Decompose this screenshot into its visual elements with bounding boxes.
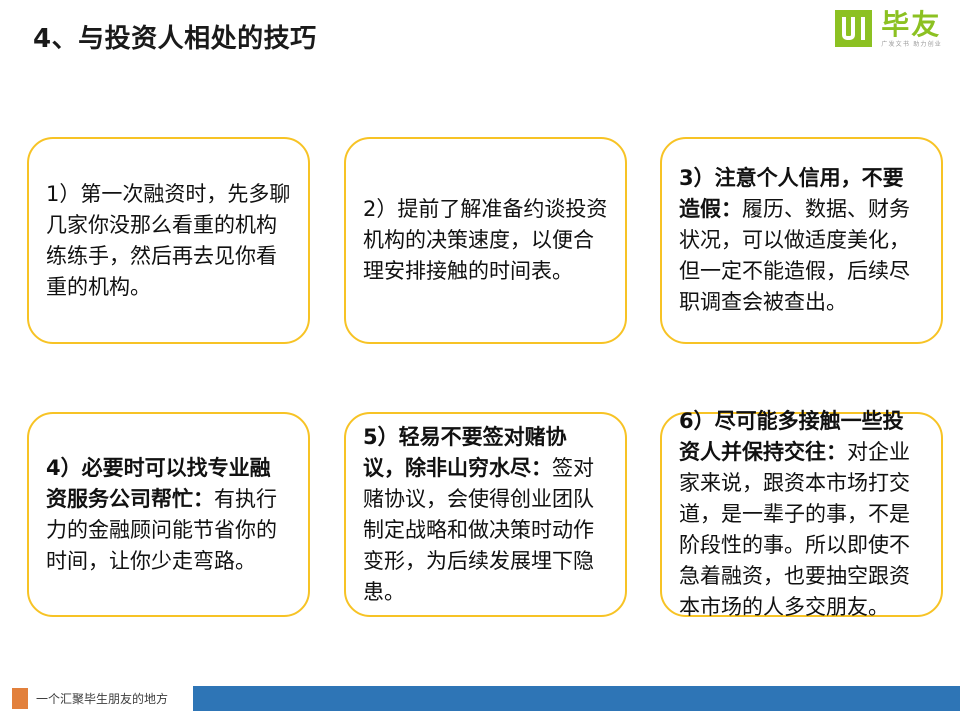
logo-subtitle: 广发文书 助力创业 xyxy=(881,41,942,49)
tip-card-6-body: 对企业家来说，跟资本市场打交道，是一辈子的事，不是阶段性的事。所以即使不急着融资… xyxy=(679,440,910,619)
tips-card-grid: 1）第一次融资时，先多聊几家你没那么看重的机构练练手，然后再去见你看重的机构。 … xyxy=(27,137,943,617)
tip-card-2-text: 2）提前了解准备约谈投资机构的决策速度，以便合理安排接触的时间表。 xyxy=(363,194,608,287)
tip-card-5-text: 5）轻易不要签对赌协议，除非山穷水尽：签对赌协议，会使得创业团队制定战略和做决策… xyxy=(363,422,608,608)
tip-card-4-text: 4）必要时可以找专业融资服务公司帮忙：有执行力的金融顾问能节省你的时间，让你少走… xyxy=(46,453,291,577)
tip-card-1: 1）第一次融资时，先多聊几家你没那么看重的机构练练手，然后再去见你看重的机构。 xyxy=(27,137,310,344)
tip-card-6: 6）尽可能多接触一些投资人并保持交往：对企业家来说，跟资本市场打交道，是一辈子的… xyxy=(660,412,943,617)
tip-card-2: 2）提前了解准备约谈投资机构的决策速度，以便合理安排接触的时间表。 xyxy=(344,137,627,344)
logo-u-glyph xyxy=(842,17,855,40)
page-title: 4、与投资人相处的技巧 xyxy=(33,18,317,55)
tip-card-1-text: 1）第一次融资时，先多聊几家你没那么看重的机构练练手，然后再去见你看重的机构。 xyxy=(46,179,291,303)
logo-wordmark: 毕友 xyxy=(881,10,942,40)
slide-footer: 一个汇聚毕生朋友的地方 xyxy=(0,684,960,720)
tip-card-4: 4）必要时可以找专业融资服务公司帮忙：有执行力的金融顾问能节省你的时间，让你少走… xyxy=(27,412,310,617)
footer-blue-bar xyxy=(193,686,960,711)
tip-card-1-body: 1）第一次融资时，先多聊几家你没那么看重的机构练练手，然后再去见你看重的机构。 xyxy=(46,182,290,299)
footer-accent-square xyxy=(12,688,28,709)
tip-card-3-text: 3）注意个人信用，不要造假：履历、数据、财务状况，可以做适度美化，但一定不能造假… xyxy=(679,163,924,318)
tip-card-5-lead: 5）轻易不要签对赌协议，除非山穷水尽： xyxy=(363,425,567,480)
logo-i-glyph xyxy=(861,17,865,40)
ui-logo-icon xyxy=(835,10,872,47)
brand-logo: 毕友 广发文书 助力创业 xyxy=(835,10,942,56)
tip-card-5: 5）轻易不要签对赌协议，除非山穷水尽：签对赌协议，会使得创业团队制定战略和做决策… xyxy=(344,412,627,617)
logo-text-group: 毕友 广发文书 助力创业 xyxy=(881,10,942,49)
tip-card-2-body: 2）提前了解准备约谈投资机构的决策速度，以便合理安排接触的时间表。 xyxy=(363,197,607,283)
slide-canvas: 4、与投资人相处的技巧 毕友 广发文书 助力创业 1）第一次融资时，先多聊几家你… xyxy=(0,0,960,720)
tip-card-3: 3）注意个人信用，不要造假：履历、数据、财务状况，可以做适度美化，但一定不能造假… xyxy=(660,137,943,344)
footer-tagline: 一个汇聚毕生朋友的地方 xyxy=(36,690,168,708)
tip-card-6-text: 6）尽可能多接触一些投资人并保持交往：对企业家来说，跟资本市场打交道，是一辈子的… xyxy=(679,406,924,623)
